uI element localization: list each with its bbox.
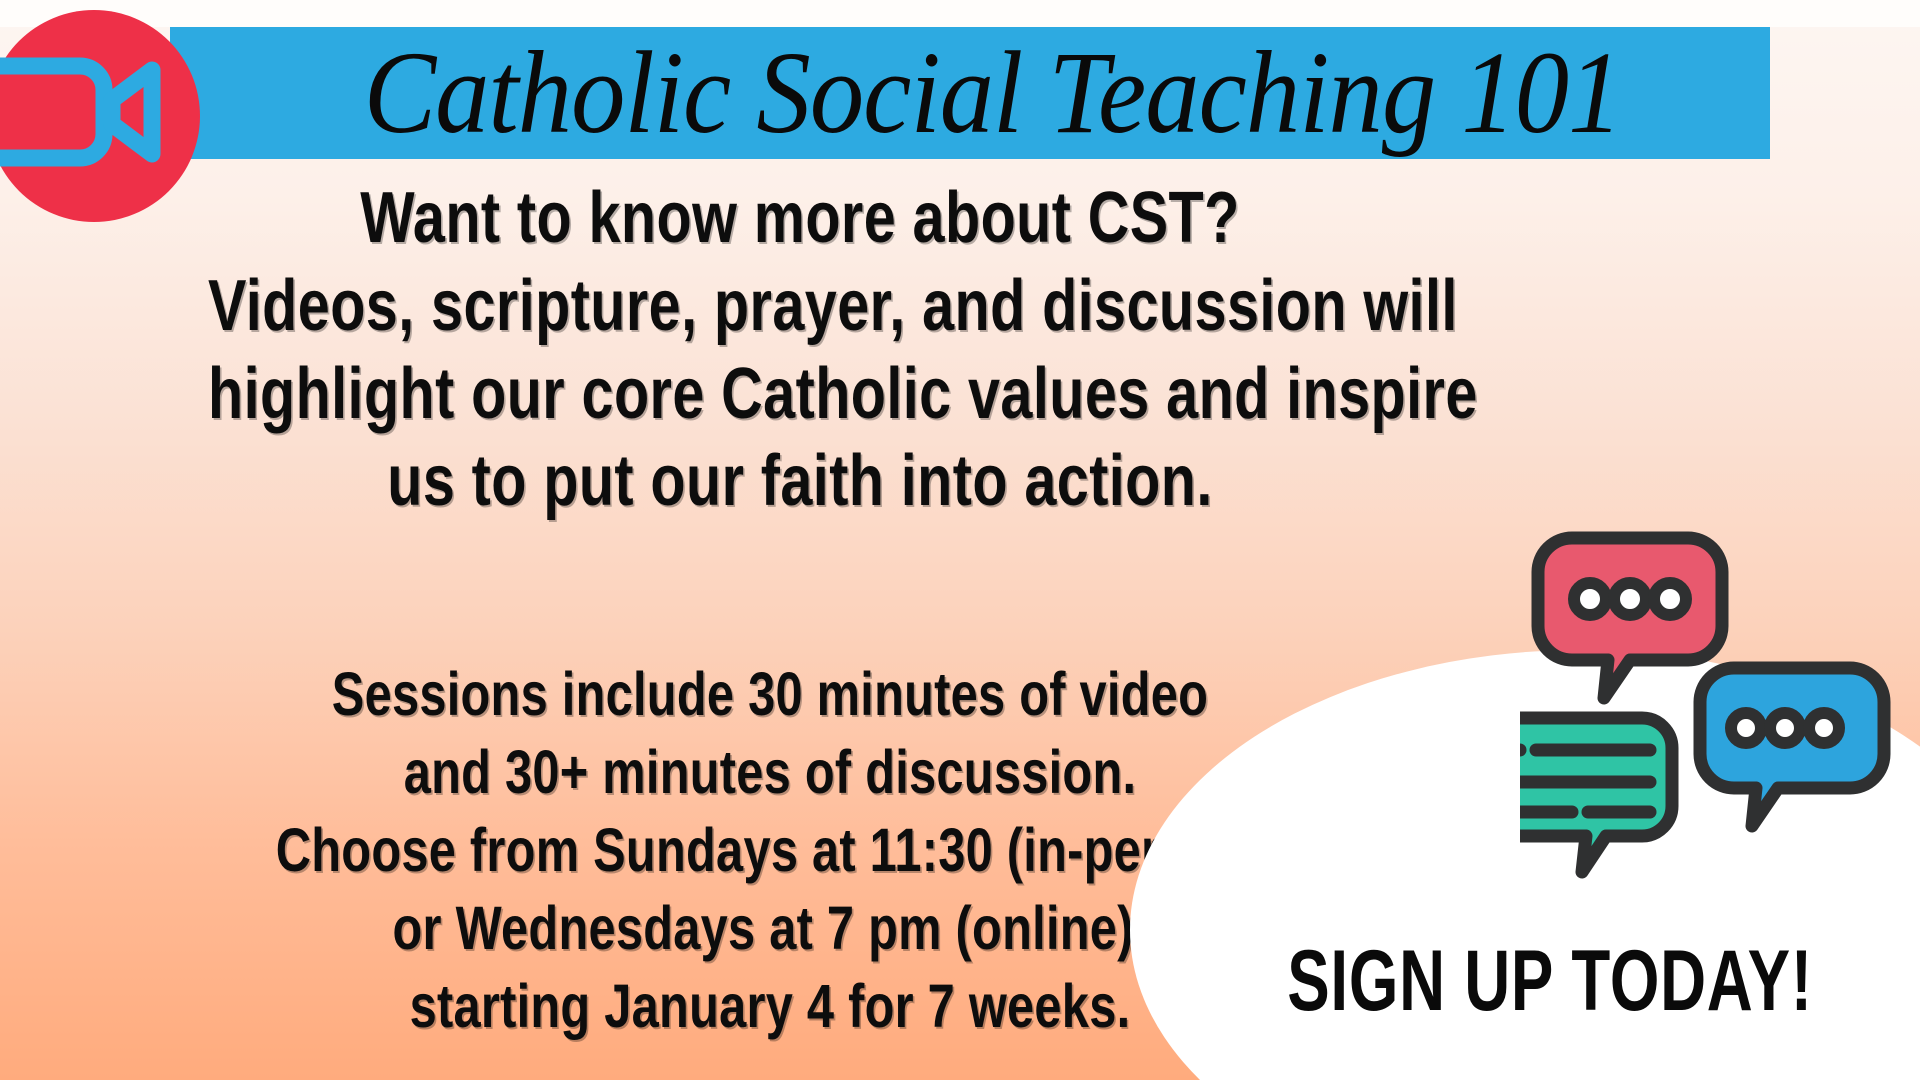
page-title: Catholic Social Teaching 101 xyxy=(364,34,1622,152)
speech-bubble-lines-teal-icon xyxy=(1520,718,1672,872)
speech-bubble-cluster xyxy=(1520,520,1920,880)
headline-line-1: Want to know more about CST? xyxy=(208,175,1392,263)
top-white-strip xyxy=(0,0,1920,27)
sign-up-cta-text[interactable]: SIGN UP TODAY! xyxy=(1276,938,1824,1024)
poster-canvas: Catholic Social Teaching 101 Want to kno… xyxy=(0,0,1920,1080)
detail-line-2: and 30+ minutes of discussion. xyxy=(202,733,1338,811)
video-camera-icon xyxy=(0,56,176,168)
speech-bubble-dots-blue-icon xyxy=(1700,668,1884,826)
headline-block: Want to know more about CST? Videos, scr… xyxy=(208,175,1392,526)
speech-bubble-dots-pink-icon xyxy=(1538,538,1722,698)
headline-line-4: us to put our faith into action. xyxy=(208,438,1392,526)
title-banner: Catholic Social Teaching 101 xyxy=(170,27,1770,159)
headline-line-3: highlight our core Catholic values and i… xyxy=(208,351,1392,439)
headline-line-2: Videos, scripture, prayer, and discussio… xyxy=(208,263,1392,351)
detail-line-1: Sessions include 30 minutes of video xyxy=(202,655,1338,733)
